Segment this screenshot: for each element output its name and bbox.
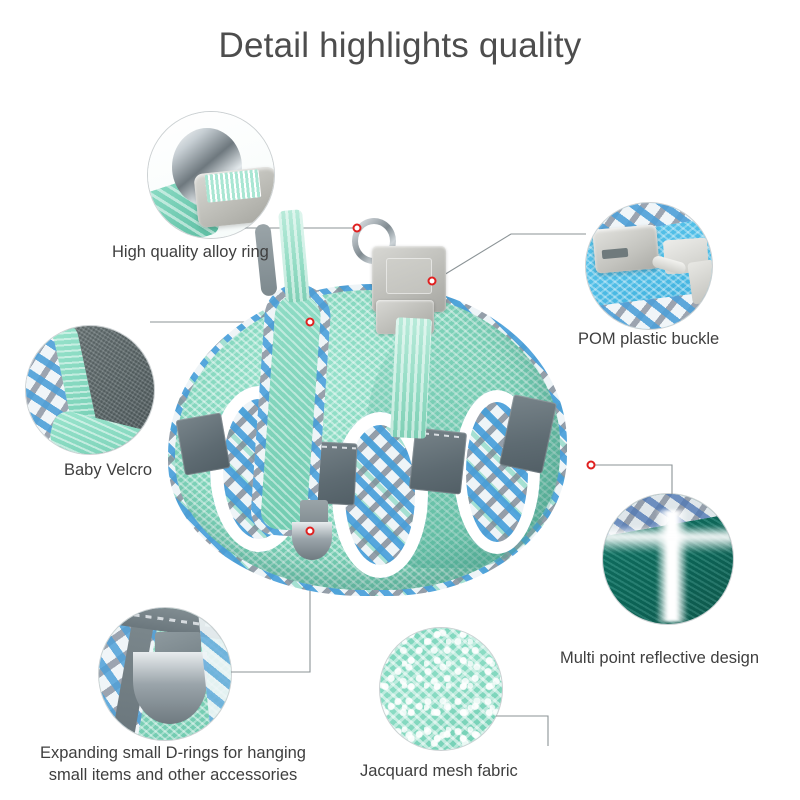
reflective-glow-strip-horizontal	[603, 526, 733, 552]
label-jacquard-mesh: Jacquard mesh fabric	[360, 760, 518, 782]
detail-circle-mesh	[380, 628, 502, 750]
marker-buckle	[428, 277, 437, 286]
detail-circle-d-ring	[99, 608, 231, 740]
jacquard-mesh-texture-icon	[380, 628, 502, 750]
detail-circle-alloy-ring	[148, 112, 274, 238]
label-reflective-design: Multi point reflective design	[560, 647, 759, 669]
label-alloy-ring: High quality alloy ring	[112, 241, 269, 263]
detail-circle-buckle	[586, 203, 712, 329]
reflective-patch-left	[175, 412, 230, 475]
center-webbing-strap	[390, 317, 432, 439]
marker-velcro	[306, 318, 315, 327]
detail-circle-reflective	[603, 494, 733, 624]
marker-alloy-ring	[353, 224, 362, 233]
label-d-rings: Expanding small D-rings for hanging smal…	[18, 742, 328, 787]
marker-reflective	[587, 461, 596, 470]
label-plastic-buckle: POM plastic buckle	[578, 328, 719, 350]
alloy-ring-webbing-teeth	[205, 169, 262, 202]
label-baby-velcro: Baby Velcro	[64, 459, 152, 481]
detail-circle-velcro	[26, 326, 154, 454]
buckle-face-plate	[386, 258, 432, 294]
infographic-canvas: Detail highlights quality	[0, 0, 800, 800]
marker-d-ring	[306, 527, 315, 536]
